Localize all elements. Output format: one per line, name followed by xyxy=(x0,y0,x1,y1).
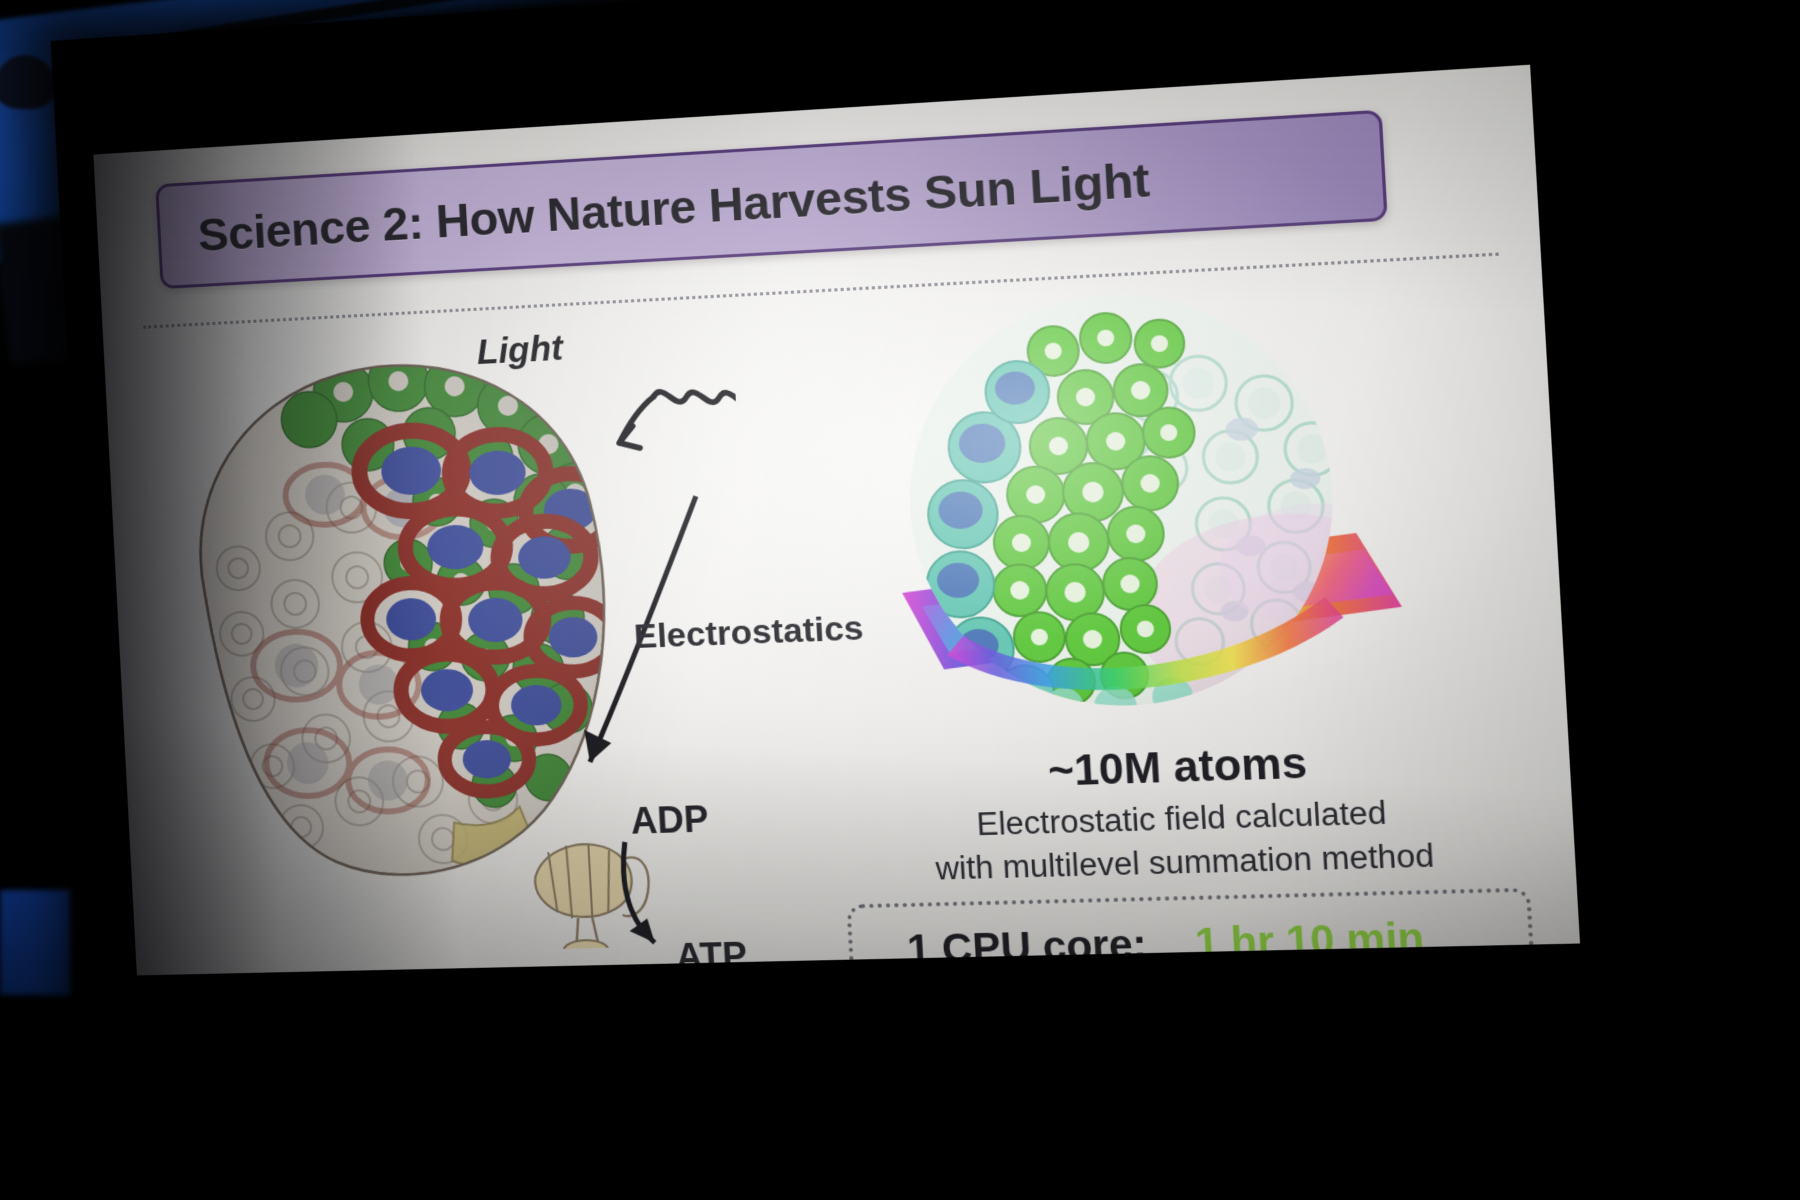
projection-screen: Science 2: How Nature Harvests Sun Light xyxy=(51,0,1630,1026)
chromatophore-render xyxy=(844,273,1423,742)
label-light: Light xyxy=(476,328,564,373)
chromatophore-sphere-svg xyxy=(844,273,1423,742)
atp-synthase-icon xyxy=(533,843,653,958)
atoms-headline: ~10M atoms xyxy=(828,731,1538,803)
label-adp: ADP xyxy=(630,798,710,843)
page-title: Science 2: How Nature Harvests Sun Light xyxy=(159,150,1150,263)
photo-of-presentation-slide: Science 2: How Nature Harvests Sun Light xyxy=(0,0,1800,1200)
audience-head-silhouette xyxy=(250,1100,440,1200)
audience-head-silhouette xyxy=(0,1140,240,1200)
atp-arrow xyxy=(622,841,655,943)
light-squiggle-arrow xyxy=(617,387,755,449)
right-column: ~10M atoms Electrostatic field calculate… xyxy=(803,267,1547,958)
slide-surface: Science 2: How Nature Harvests Sun Light xyxy=(93,65,1580,976)
wall-blue-strip xyxy=(0,890,70,995)
chromatophore-cutaway-diagram: Light Electrostatics ADP ATP xyxy=(133,313,766,958)
